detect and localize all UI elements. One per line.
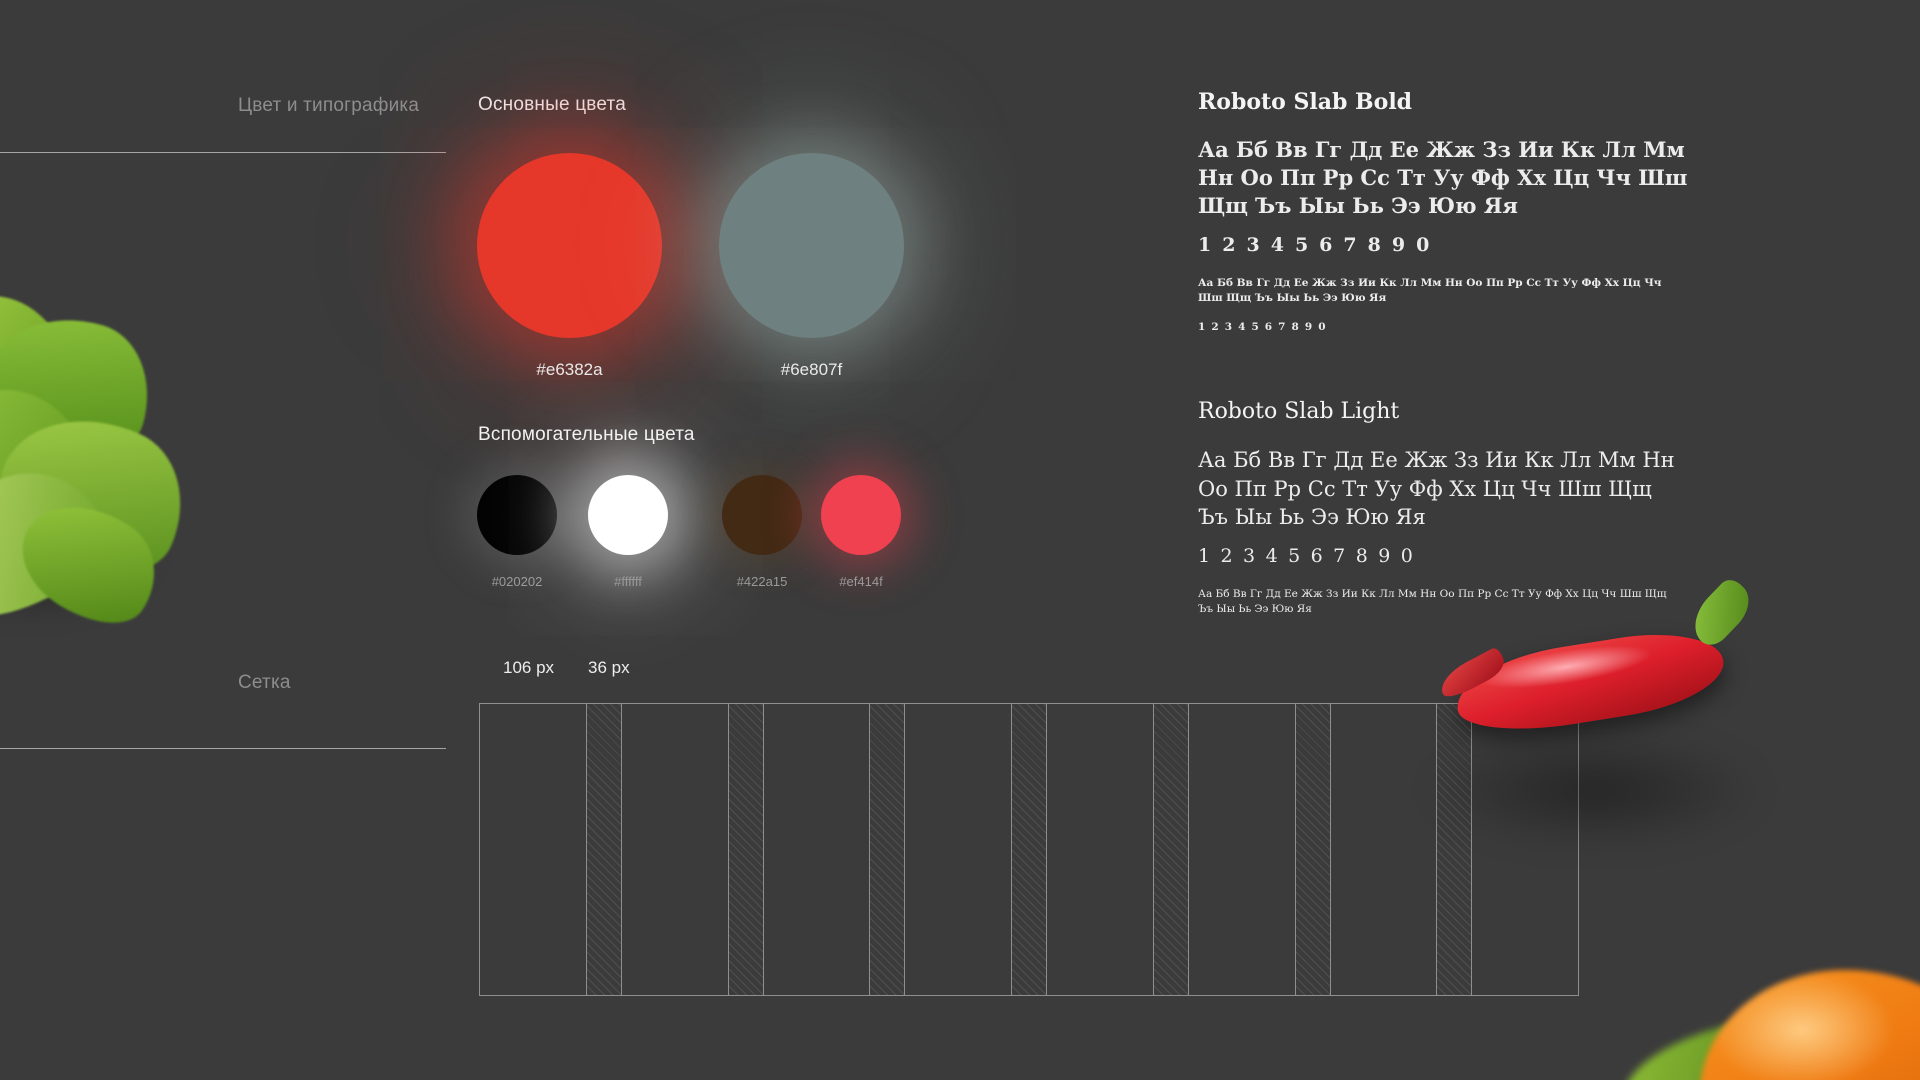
color-disc: [477, 475, 557, 555]
grid-gutter: [1295, 704, 1331, 995]
chili-stem: [1683, 575, 1759, 652]
grid-column: [764, 704, 870, 995]
primary-colors-heading: Основные цвета: [478, 94, 626, 116]
typeface-name-light: Roboto Slab Light: [1198, 399, 1399, 424]
color-disc: [588, 475, 668, 555]
chili-tip: [1435, 646, 1509, 702]
typeface-alphabet-bold: Аа Бб Вв Гг Дд Ее Жж Зз Ии Кк Лл Мм Нн О…: [1198, 136, 1688, 220]
sidebar-section-color-typography: Цвет и типографика: [238, 95, 419, 117]
grid-diagram: [479, 703, 1579, 996]
color-swatch-sage[interactable]: #6e807f: [719, 153, 904, 338]
lettuce-shadow: [0, 490, 160, 620]
orange-leaf: [1613, 1008, 1817, 1080]
typeface-alphabet-bold-small: Аа Бб Вв Гг Дд Ее Жж Зз Ии Кк Лл Мм Нн О…: [1198, 276, 1688, 306]
color-swatch-pink[interactable]: #ef414f: [821, 475, 901, 555]
grid-column: [480, 704, 586, 995]
grid-gutter: [869, 704, 905, 995]
orange-body: [1700, 970, 1920, 1080]
color-hex-label: #422a15: [737, 574, 788, 589]
grid-gutter: [728, 704, 764, 995]
typeface-name-bold: Roboto Slab Bold: [1198, 89, 1412, 115]
typeface-alphabet-light: Аа Бб Вв Гг Дд Ее Жж Зз Ии Кк Лл Мм Нн О…: [1198, 446, 1688, 532]
typeface-numerals-bold-small: 1 2 3 4 5 6 7 8 9 0: [1198, 321, 1327, 333]
color-disc: [477, 153, 662, 338]
grid-gutter: [586, 704, 622, 995]
sidebar-section-grid: Сетка: [238, 672, 291, 694]
grid-column: [622, 704, 728, 995]
color-swatch-brown[interactable]: #422a15: [722, 475, 802, 555]
typeface-alphabet-light-small: Аа Бб Вв Гг Дд Ее Жж Зз Ии Кк Лл Мм Нн О…: [1198, 587, 1668, 617]
color-disc: [821, 475, 901, 555]
lettuce-photo: [0, 300, 210, 620]
grid-column: [1047, 704, 1153, 995]
color-disc: [722, 475, 802, 555]
color-hex-label: #020202: [492, 574, 543, 589]
color-hex-label: #ffffff: [614, 574, 642, 589]
grid-column-width-label: 106 px: [503, 658, 554, 678]
grid-column: [1189, 704, 1295, 995]
grid-column: [1331, 704, 1437, 995]
style-guide-page: Цвет и типографика Сетка Основные цвета …: [0, 0, 1920, 1080]
color-hex-label: #ef414f: [839, 574, 882, 589]
color-swatch-red[interactable]: #e6382a: [477, 153, 662, 338]
grid-gutter: [1011, 704, 1047, 995]
color-hex-label: #e6382a: [536, 360, 602, 380]
typeface-numerals-bold: 1 2 3 4 5 6 7 8 9 0: [1198, 234, 1432, 256]
grid-column: [905, 704, 1011, 995]
color-disc: [719, 153, 904, 338]
grid-gutter-width-label: 36 px: [588, 658, 630, 678]
orange-pepper-photo: [1640, 960, 1920, 1080]
secondary-colors-heading: Вспомогательные цвета: [478, 424, 695, 446]
color-hex-label: #6e807f: [781, 360, 842, 380]
color-swatch-black[interactable]: #020202: [477, 475, 557, 555]
color-swatch-white[interactable]: #ffffff: [588, 475, 668, 555]
chili-shadow: [1430, 735, 1760, 845]
typeface-numerals-light: 1 2 3 4 5 6 7 8 9 0: [1198, 545, 1415, 567]
sidebar-divider-bottom: [0, 748, 446, 749]
grid-gutter: [1153, 704, 1189, 995]
sidebar-divider-top: [0, 152, 446, 153]
